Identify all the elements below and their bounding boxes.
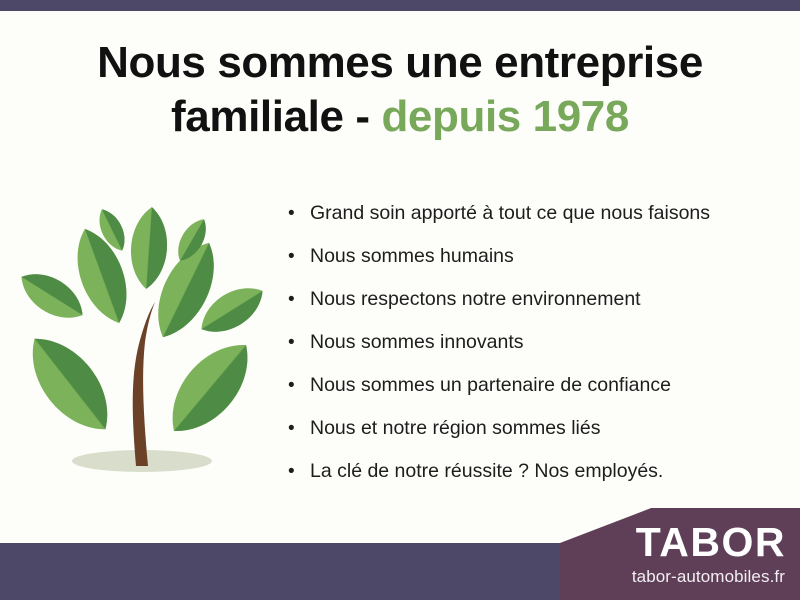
list-item: • Nous sommes un partenaire de confiance bbox=[288, 364, 758, 407]
list-item: • La clé de notre réussite ? Nos employé… bbox=[288, 450, 758, 493]
bullet-marker-icon: • bbox=[288, 192, 295, 235]
bullet-marker-icon: • bbox=[288, 278, 295, 321]
list-item: • Nous respectons notre environnement bbox=[288, 278, 758, 321]
list-item-label: Nous sommes innovants bbox=[310, 331, 524, 353]
bullet-marker-icon: • bbox=[288, 450, 295, 493]
page-title-accent: depuis 1978 bbox=[381, 92, 629, 141]
page-title-line-2-plain: familiale - bbox=[171, 92, 381, 141]
list-item-label: La clé de notre réussite ? Nos employés. bbox=[310, 460, 663, 482]
page-title-line-1: Nous sommes une entreprise bbox=[40, 36, 760, 90]
brand-wordmark: TABOR bbox=[560, 522, 786, 563]
tree-illustration bbox=[14, 178, 272, 490]
list-item: • Nous et notre région sommes liés bbox=[288, 407, 758, 450]
top-accent-bar bbox=[0, 0, 800, 11]
value-bullet-list: • Grand soin apporté à tout ce que nous … bbox=[288, 192, 758, 493]
tree-leaf bbox=[14, 323, 125, 445]
brand-logo-panel: TABOR tabor-automobiles.fr bbox=[560, 508, 800, 600]
list-item: • Nous sommes innovants bbox=[288, 321, 758, 364]
bullet-marker-icon: • bbox=[288, 235, 295, 278]
tree-illustration-svg bbox=[14, 178, 272, 490]
bullet-marker-icon: • bbox=[288, 321, 295, 364]
slide-canvas: Nous sommes une entreprise familiale - d… bbox=[0, 0, 800, 600]
brand-tagline: tabor-automobiles.fr bbox=[560, 568, 785, 585]
list-item-label: Nous sommes un partenaire de confiance bbox=[310, 374, 671, 396]
tree-leaf bbox=[128, 206, 170, 290]
bullet-marker-icon: • bbox=[288, 364, 295, 407]
tree-trunk bbox=[133, 302, 155, 466]
list-item: • Nous sommes humains bbox=[288, 235, 758, 278]
list-item-label: Nous et notre région sommes liés bbox=[310, 417, 600, 439]
list-item: • Grand soin apporté à tout ce que nous … bbox=[288, 192, 758, 235]
page-title-line-2: familiale - depuis 1978 bbox=[40, 90, 760, 144]
list-item-label: Nous respectons notre environnement bbox=[310, 288, 641, 310]
tree-leaf bbox=[155, 329, 266, 447]
page-title: Nous sommes une entreprise familiale - d… bbox=[40, 36, 760, 143]
list-item-label: Grand soin apporté à tout ce que nous fa… bbox=[310, 202, 710, 224]
list-item-label: Nous sommes humains bbox=[310, 245, 514, 267]
bullet-marker-icon: • bbox=[288, 407, 295, 450]
